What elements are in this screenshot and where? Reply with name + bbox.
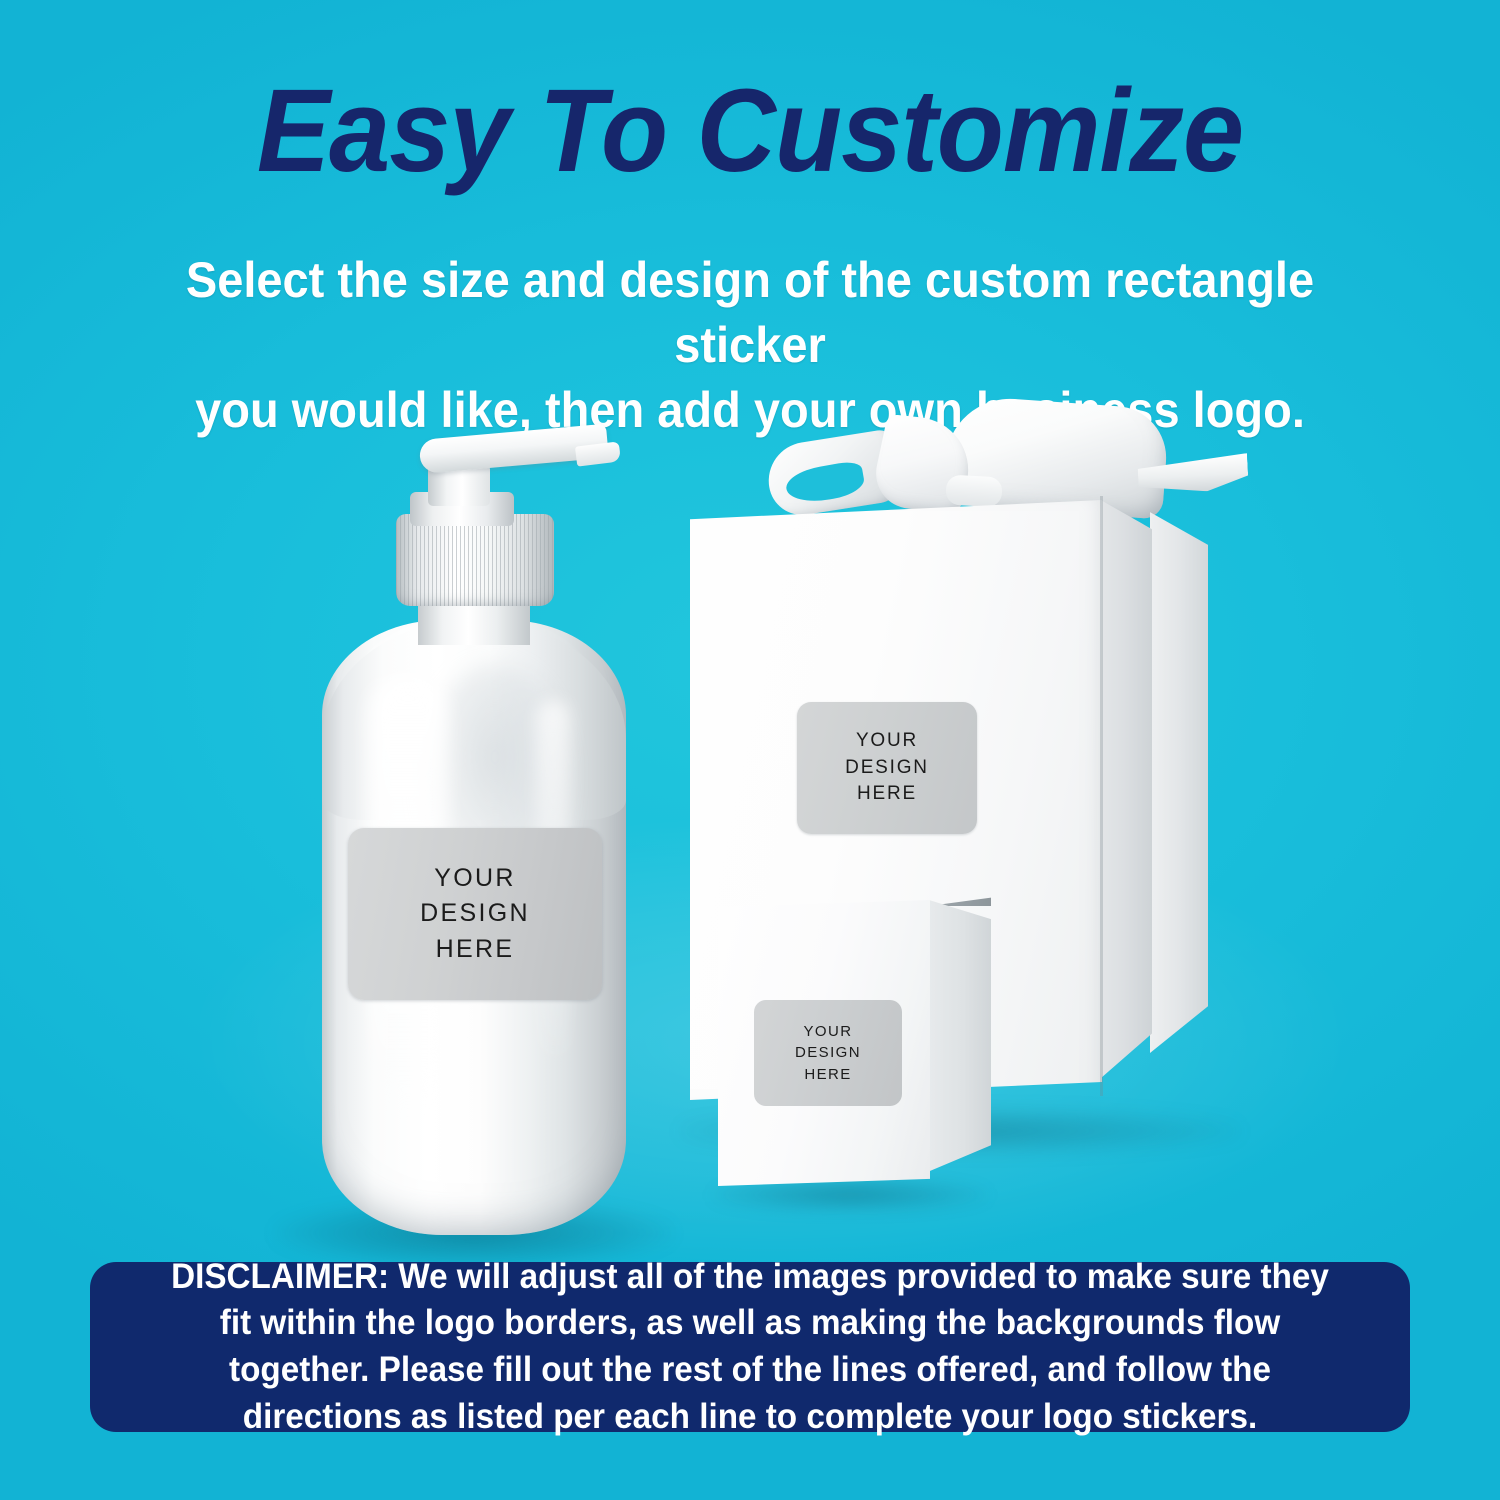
disclaimer-text: DISCLAIMER: We will adjust all of the im… bbox=[155, 1254, 1344, 1440]
pump-bottle-mockup: YOUR DESIGN HERE bbox=[300, 430, 660, 1260]
sticker-line-1: YOUR bbox=[420, 861, 530, 897]
page-title: Easy To Customize bbox=[53, 72, 1448, 190]
sticker-line-3: HERE bbox=[795, 1064, 861, 1085]
disclaimer-banner: DISCLAIMER: We will adjust all of the im… bbox=[90, 1262, 1410, 1432]
gift-box-edge-line bbox=[1100, 496, 1103, 1096]
small-box-side-panel bbox=[929, 893, 991, 1183]
gift-box-sticker-text: YOUR DESIGN HERE bbox=[845, 728, 929, 809]
bottle-sticker-text: YOUR DESIGN HERE bbox=[420, 861, 530, 968]
small-box-sticker-text: YOUR DESIGN HERE bbox=[795, 1021, 861, 1085]
gift-box-back-side-panel bbox=[1150, 504, 1208, 1088]
disclaimer-label: DISCLAIMER: bbox=[171, 1257, 389, 1296]
promo-image-canvas: Easy To Customize Select the size and de… bbox=[0, 0, 1500, 1500]
bow-knot bbox=[945, 475, 1002, 508]
sticker-line-3: HERE bbox=[845, 781, 929, 808]
subtitle-line-1: Select the size and design of the custom… bbox=[130, 248, 1371, 378]
gift-box-sticker-label: YOUR DESIGN HERE bbox=[797, 702, 977, 834]
bottle-sticker-label: YOUR DESIGN HERE bbox=[348, 828, 602, 1000]
small-box-sticker-label: YOUR DESIGN HERE bbox=[754, 1000, 902, 1106]
pump-nozzle-tip bbox=[575, 441, 621, 466]
sticker-line-1: YOUR bbox=[845, 728, 929, 755]
small-box-mockup: YOUR DESIGN HERE bbox=[710, 890, 1000, 1200]
sticker-line-3: HERE bbox=[420, 932, 530, 968]
sticker-line-2: DESIGN bbox=[795, 1042, 861, 1063]
sticker-line-2: DESIGN bbox=[420, 896, 530, 932]
sticker-line-2: DESIGN bbox=[845, 755, 929, 782]
bottle-ribbed-cap bbox=[396, 514, 554, 606]
gift-box-side-panel bbox=[1100, 496, 1152, 1100]
sticker-line-1: YOUR bbox=[795, 1021, 861, 1042]
ribbon-bow bbox=[750, 400, 1240, 520]
